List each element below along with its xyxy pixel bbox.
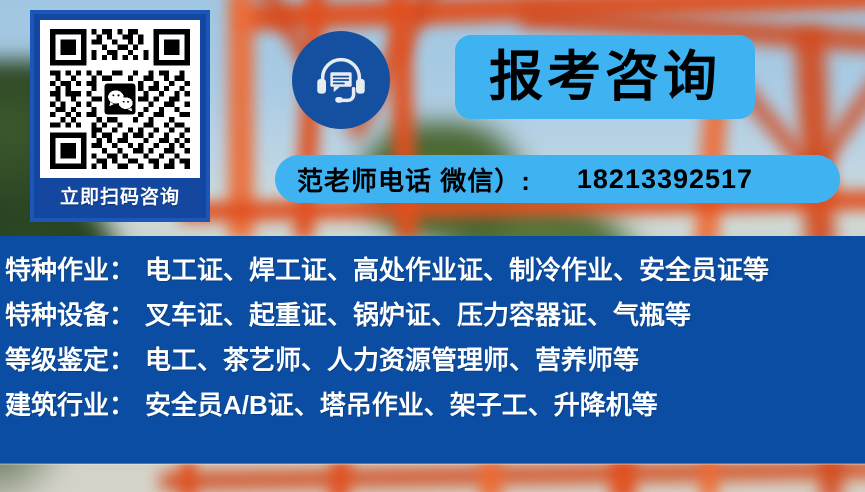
service-row: 特种作业： 电工证、焊工证、高处作业证、制冷作业、安全员证等 [5,250,865,295]
service-items: 叉车证、起重证、锅炉证、压力容器证、气瓶等 [145,295,691,332]
promo-poster: 立即扫码咨询 报考咨询 范老师电 [0,0,865,492]
qr-code-card[interactable]: 立即扫码咨询 [30,10,210,222]
consultation-badge[interactable]: 报考咨询 [455,35,755,119]
service-category-label: 建筑行业： [5,385,145,422]
contact-label: 范老师电话 微信）: [297,161,531,198]
service-row: 建筑行业： 安全员A/B证、塔吊作业、架子工、升降机等 [5,385,865,430]
headset-support-icon[interactable] [292,31,390,129]
service-category-label: 特种设备： [5,295,145,332]
qr-code-image[interactable] [40,20,200,178]
service-row: 特种设备： 叉车证、起重证、锅炉证、压力容器证、气瓶等 [5,295,865,340]
contact-phone-number[interactable]: 18213392517 [577,164,753,195]
qr-code-svg [45,24,195,174]
services-band: 特种作业： 电工证、焊工证、高处作业证、制冷作业、安全员证等 特种设备： 叉车证… [0,236,865,464]
service-category-label: 特种作业： [5,250,145,287]
band-bottom-divider [0,463,865,465]
headset-support-icon-svg [310,49,372,111]
contact-pill[interactable]: 范老师电话 微信）: 18213392517 [275,155,840,203]
service-items: 安全员A/B证、塔吊作业、架子工、升降机等 [145,385,658,422]
service-items: 电工证、焊工证、高处作业证、制冷作业、安全员证等 [145,250,769,287]
service-category-label: 等级鉴定： [5,340,145,377]
consultation-badge-title: 报考咨询 [489,50,721,104]
qr-card-caption: 立即扫码咨询 [60,178,180,218]
service-items: 电工、茶艺师、人力资源管理师、营养师等 [145,340,639,377]
service-row: 等级鉴定： 电工、茶艺师、人力资源管理师、营养师等 [5,340,865,385]
speech-bubble-icon [330,72,351,92]
